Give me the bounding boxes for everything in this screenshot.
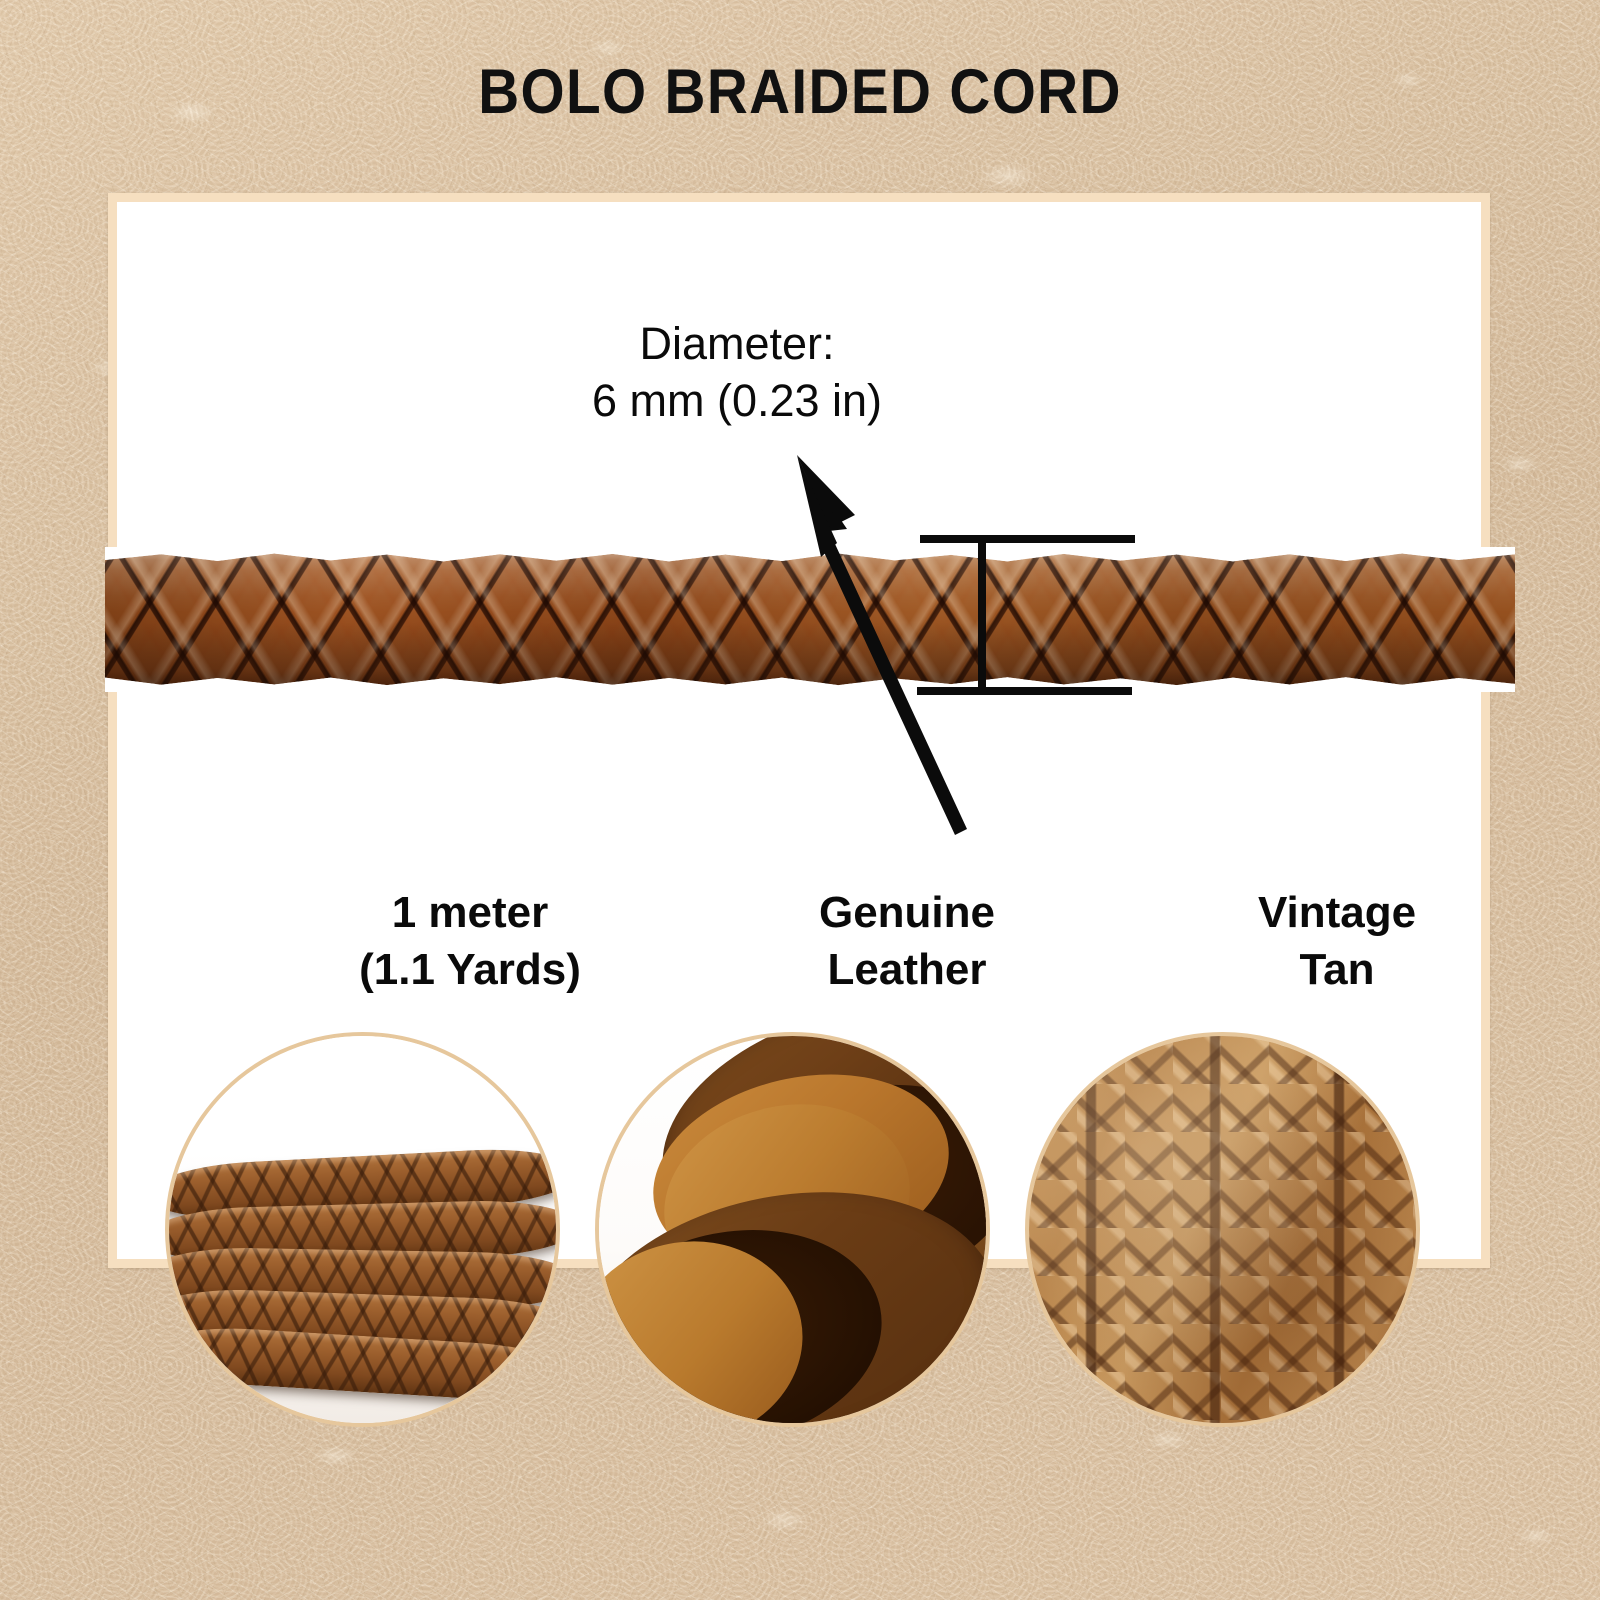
feature-color-line1: Vintage — [1167, 884, 1507, 941]
diameter-label-line2: 6 mm (0.23 in) — [447, 372, 1027, 429]
feature-label-length: 1 meter (1.1 Yards) — [300, 884, 640, 998]
product-info-card: Diameter: 6 mm (0.23 in) 1 meter (1.1 Ya… — [108, 193, 1490, 1268]
dimension-bar-top — [920, 535, 1135, 543]
folded-leather-scene — [599, 1036, 986, 1423]
feature-length-line1: 1 meter — [300, 884, 640, 941]
card-inner: Diameter: 6 mm (0.23 in) 1 meter (1.1 Ya… — [117, 202, 1481, 1259]
feature-material-line2: Leather — [737, 941, 1077, 998]
feature-length-line2: (1.1 Yards) — [300, 941, 640, 998]
diameter-leader-arrow-icon — [777, 445, 1107, 845]
feature-image-genuine-leather — [595, 1032, 990, 1427]
braid-macro-scene — [1029, 1036, 1416, 1423]
page-title: BOLO BRAIDED CORD — [80, 56, 1520, 128]
feature-image-coiled-cord — [165, 1032, 560, 1427]
dimension-vertical-tick — [978, 535, 986, 695]
feature-material-line1: Genuine — [737, 884, 1077, 941]
feature-color-line2: Tan — [1167, 941, 1507, 998]
coiled-cord-scene — [169, 1036, 556, 1423]
dimension-bar-bottom — [917, 687, 1132, 695]
feature-label-color: Vintage Tan — [1167, 884, 1507, 998]
diameter-label-line1: Diameter: — [447, 315, 1027, 372]
feature-image-vintage-tan-macro — [1025, 1032, 1420, 1427]
feature-label-material: Genuine Leather — [737, 884, 1077, 998]
diameter-callout-label: Diameter: 6 mm (0.23 in) — [447, 315, 1027, 429]
